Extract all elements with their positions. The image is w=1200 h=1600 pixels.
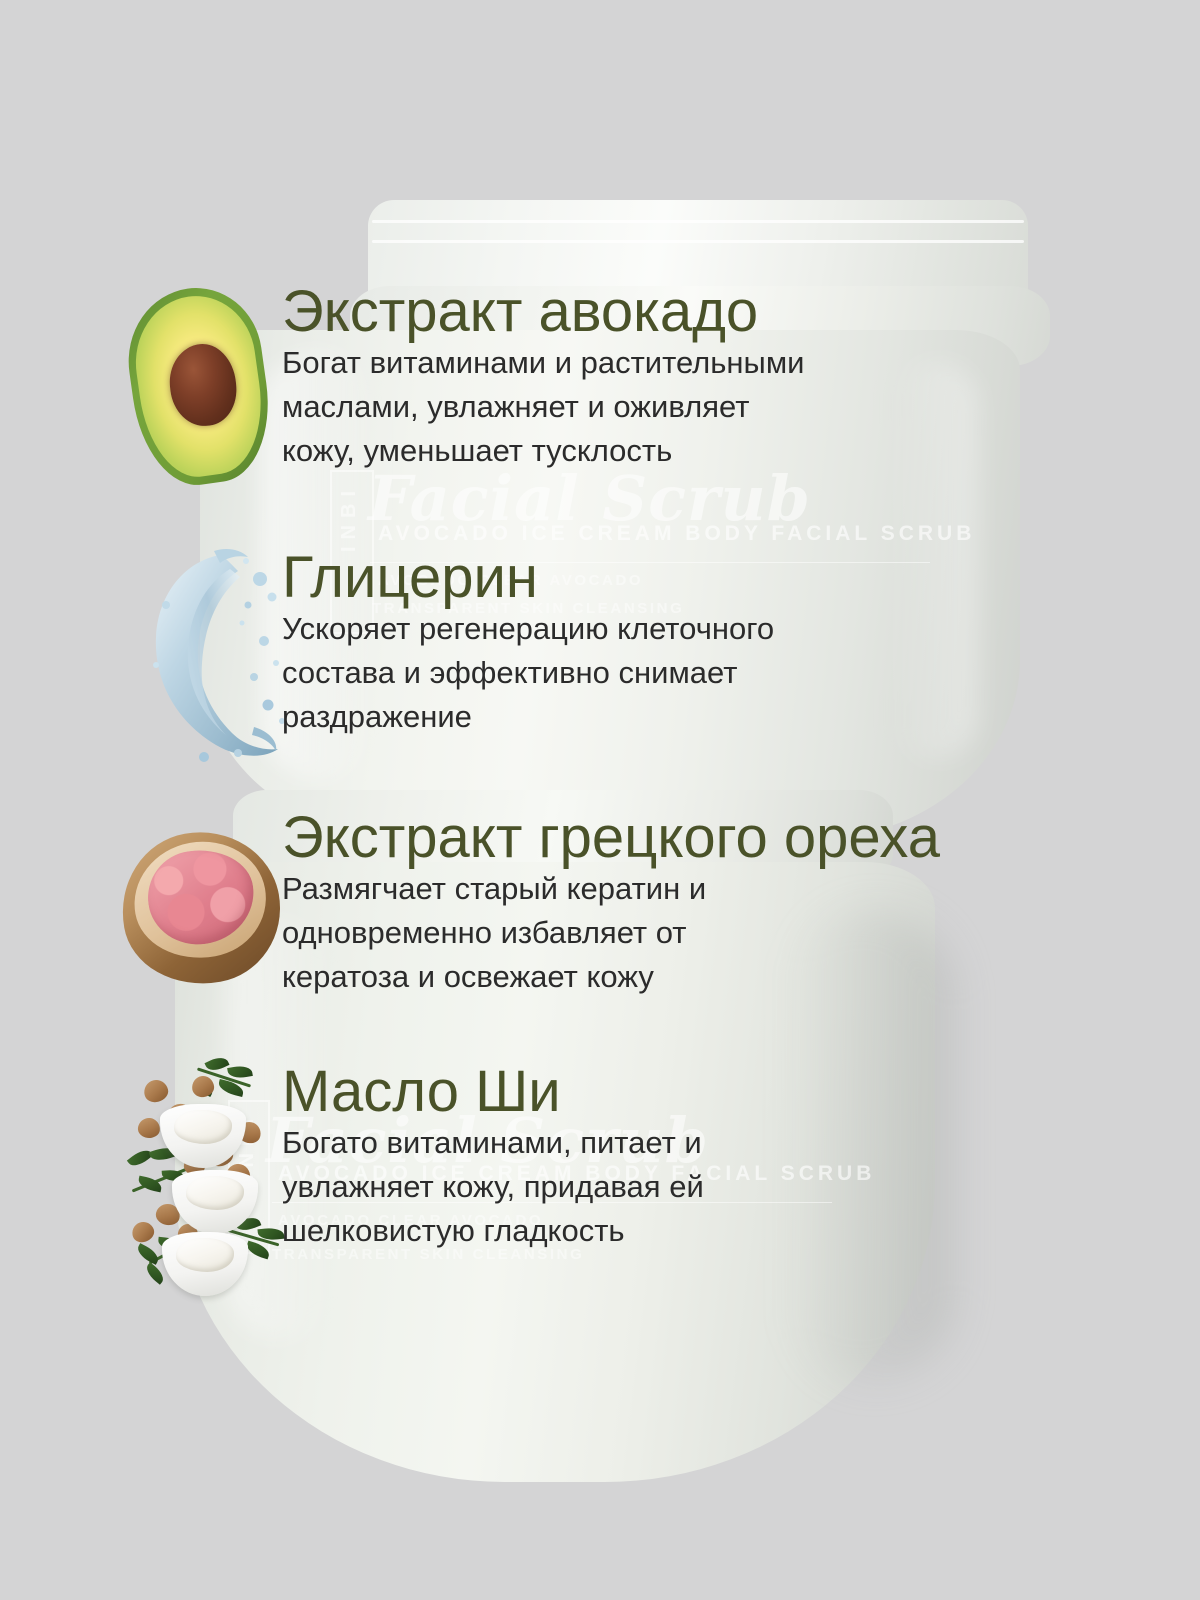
shea-butter-chunk (176, 1238, 234, 1272)
ingredient-block-shea-butter: Масло Ши Богато витаминами, питает и увл… (282, 1062, 704, 1253)
ingredient-title: Глицерин (282, 548, 774, 607)
walnut-icon (122, 832, 280, 984)
ingredient-description: Ускоряет регенерацию клеточного состава … (282, 607, 774, 739)
jar-brand-label: INBI (338, 484, 361, 552)
description-line: состава и эффективно снимает (282, 651, 774, 695)
ingredient-block-avocado: Экстракт авокадо Богат витаминами и раст… (282, 282, 804, 473)
jar-highlight-right (888, 360, 978, 760)
leaf (143, 1262, 167, 1285)
ingredient-block-walnut: Экстракт грецкого ореха Размягчает стары… (282, 808, 940, 999)
product-jar-background: INBI Facial Scrub AVOCADO ICE CREAM BODY… (0, 0, 1200, 1600)
description-line: раздражение (282, 695, 774, 739)
description-line: кератоза и освежает кожу (282, 955, 940, 999)
leaf (127, 1146, 153, 1170)
ingredient-description: Богат витаминами и растительными маслами… (282, 341, 804, 473)
description-line: Богат витаминами и растительными (282, 341, 804, 385)
shea-nut (137, 1117, 161, 1139)
description-line: шелковистую гладкость (282, 1209, 704, 1253)
description-line: одновременно избавляет от (282, 911, 940, 955)
description-line: Богато витаминами, питает и (282, 1121, 704, 1165)
shea-butter-chunk (186, 1176, 244, 1210)
ingredient-title: Масло Ши (282, 1062, 704, 1121)
ingredient-description: Размягчает старый кератин и одновременно… (282, 867, 940, 999)
ingredient-infographic-page: INBI Facial Scrub AVOCADO ICE CREAM BODY… (0, 0, 1200, 1600)
shea-nut (191, 1075, 216, 1099)
description-line: увлажняет кожу, придавая ей (282, 1165, 704, 1209)
description-line: Размягчает старый кератин и (282, 867, 940, 911)
water-splash-icon (142, 545, 292, 765)
shea-butter-icon (122, 1052, 297, 1287)
ingredient-description: Богато витаминами, питает и увлажняет ко… (282, 1121, 704, 1253)
shea-nut (129, 1219, 157, 1245)
jar-tagline: AVOCADO ICE CREAM BODY FACIAL SCRUB (378, 522, 975, 546)
description-line: Ускоряет регенерацию клеточного (282, 607, 774, 651)
ingredient-title: Экстракт грецкого ореха (282, 808, 940, 867)
shea-nut (142, 1077, 171, 1104)
description-line: кожу, уменьшает тусклость (282, 429, 804, 473)
description-line: маслами, увлажняет и оживляет (282, 385, 804, 429)
ingredient-block-glycerin: Глицерин Ускоряет регенерацию клеточного… (282, 548, 774, 739)
shea-butter-chunk (174, 1110, 232, 1144)
ingredient-title: Экстракт авокадо (282, 282, 804, 341)
avocado-half-icon (132, 288, 266, 484)
